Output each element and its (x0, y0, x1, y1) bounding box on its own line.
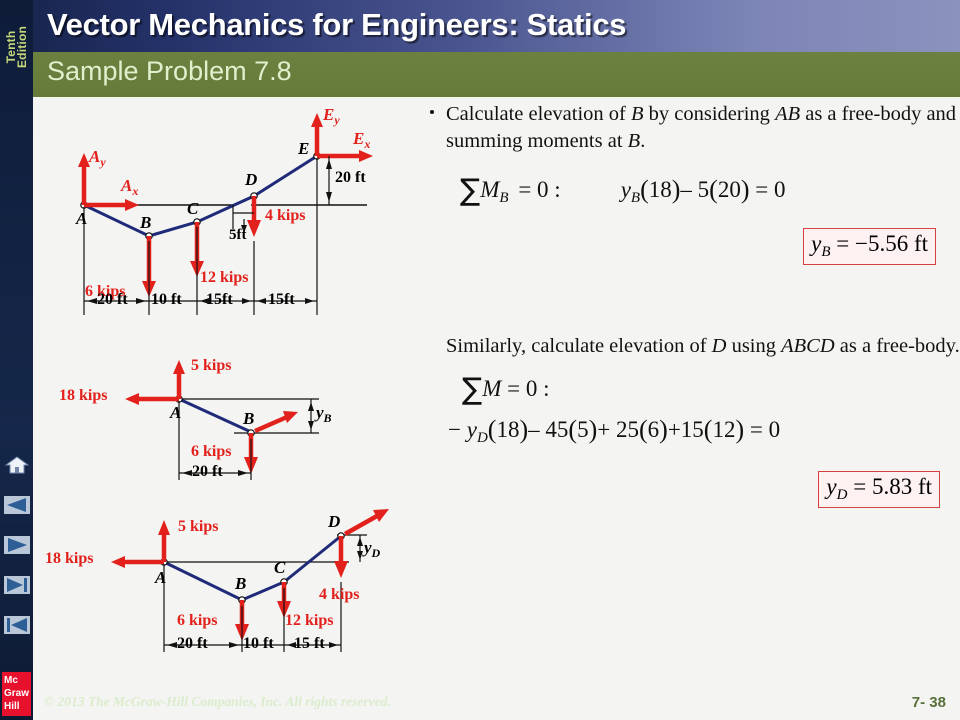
load-5-kips-fig2: 5 kips (191, 357, 231, 375)
equation-moment-sum: ∑M = 0 : (462, 372, 960, 407)
next-slide-button[interactable] (3, 532, 31, 558)
skip-forward-icon (4, 576, 30, 594)
label-Ax: Ax (121, 176, 138, 199)
load-4-kips-fig3: 4 kips (319, 586, 359, 604)
bullet-item-1: Calculate elevation of B by considering … (418, 101, 960, 155)
edition-label: Tenth Edition (6, 8, 28, 86)
skip-back-icon (4, 616, 30, 634)
last-slide-button[interactable] (3, 572, 31, 598)
figure-segment-ab: 5 kips 18 kips 6 kips A B yB 20 ft (19, 355, 349, 495)
load-12-kips: 12 kips (200, 269, 248, 287)
summation-symbol-1: ∑ (460, 173, 480, 208)
joint-label-A-fig3: A (155, 568, 166, 588)
load-6-kips-fig3: 6 kips (177, 612, 217, 630)
dim-20ft-fig3: 20 ft (177, 635, 208, 653)
copyright-notice: © 2013 The McGraw-Hill Companies, Inc. A… (44, 694, 391, 710)
joint-label-C-fig3: C (274, 558, 285, 578)
joint-label-B: B (140, 213, 151, 233)
elevation-label-yD: yD (364, 538, 380, 561)
load-5-kips-fig3: 5 kips (178, 518, 218, 536)
load-4-kips: 4 kips (265, 207, 305, 225)
summation-symbol-2: ∑ (462, 372, 482, 407)
joint-label-C: C (187, 199, 198, 219)
load-12-kips-fig3: 12 kips (285, 612, 333, 630)
dim-15ft-fig3: 15 ft (294, 635, 325, 653)
equation-moment-D: − yD(18)– 45(5)+ 25(6)+15(12) = 0 (448, 415, 960, 447)
joint-label-A-fig2: A (170, 403, 181, 423)
mcgraw-hill-logo: Mc Graw Hill (2, 672, 31, 716)
load-18-kips-fig3: 18 kips (45, 550, 93, 568)
paragraph-2: Similarly, calculate elevation of D usin… (418, 333, 960, 360)
bullet-marker (430, 110, 434, 114)
page-title: Vector Mechanics for Engineers: Statics (47, 7, 626, 43)
joint-label-D-fig3: D (328, 512, 340, 532)
title-bar: Vector Mechanics for Engineers: Statics (0, 0, 960, 52)
load-18-kips-fig2: 18 kips (59, 387, 107, 405)
paragraph-2-text: Similarly, calculate elevation of D usin… (446, 335, 960, 357)
answer-row-1: yB = −5.56 ft (418, 228, 960, 265)
bullet-1-text: Calculate elevation of B by considering … (446, 103, 956, 152)
slide-content: Ay Ax Ey Ex A B C D E 6 kips 12 kips 4 k… (33, 97, 960, 720)
first-slide-button[interactable] (3, 612, 31, 638)
slide-canvas: Vector Mechanics for Engineers: Statics … (0, 0, 960, 720)
dim-10ft: 10 ft (151, 291, 182, 309)
equation-moment-B: ∑MB = 0 : yB(18)– 5(20) = 0 (460, 173, 960, 208)
previous-slide-button[interactable] (3, 492, 31, 518)
label-Ex: Ex (353, 129, 370, 152)
slide-subtitle: Sample Problem 7.8 (47, 56, 292, 87)
elevation-label-yB: yB (316, 403, 332, 426)
subtitle-bar: Sample Problem 7.8 (0, 52, 960, 97)
figure-full-cable: Ay Ax Ey Ex A B C D E 6 kips 12 kips 4 k… (37, 101, 397, 336)
label-Ay: Ay (89, 147, 106, 170)
dim-5ft: 5ft (229, 227, 247, 244)
left-navigation-rail: Tenth Edition (0, 0, 33, 720)
joint-label-B-fig3: B (235, 574, 246, 594)
page-number: 7- 38 (912, 694, 946, 711)
home-button[interactable] (3, 452, 31, 478)
load-6-kips-fig2: 6 kips (191, 443, 231, 461)
dim-20ft-fig2: 20 ft (192, 463, 223, 481)
explanation-column: Calculate elevation of B by considering … (418, 101, 960, 508)
dim-10ft-fig3: 10 ft (243, 635, 274, 653)
dim-20ft: 20 ft (97, 291, 128, 309)
answer-row-2: yD = 5.83 ft (418, 471, 960, 508)
answer-box-yB: yB = −5.56 ft (803, 228, 936, 265)
joint-label-B-fig2: B (243, 409, 254, 429)
answer-box-yD: yD = 5.83 ft (818, 471, 940, 508)
home-icon (5, 455, 29, 475)
dim-20ft-vertical: 20 ft (335, 169, 366, 187)
joint-label-A: A (76, 209, 87, 229)
joint-label-E: E (298, 139, 309, 159)
joint-label-D: D (245, 170, 257, 190)
triangle-left-icon (4, 496, 30, 514)
figure-segment-abcd: 5 kips 18 kips 6 kips 12 kips 4 kips A B… (19, 502, 419, 677)
label-Ey: Ey (323, 105, 340, 128)
dim-15ft-b: 15ft (268, 291, 295, 309)
dim-15ft-a: 15ft (206, 291, 233, 309)
triangle-right-icon (4, 536, 30, 554)
